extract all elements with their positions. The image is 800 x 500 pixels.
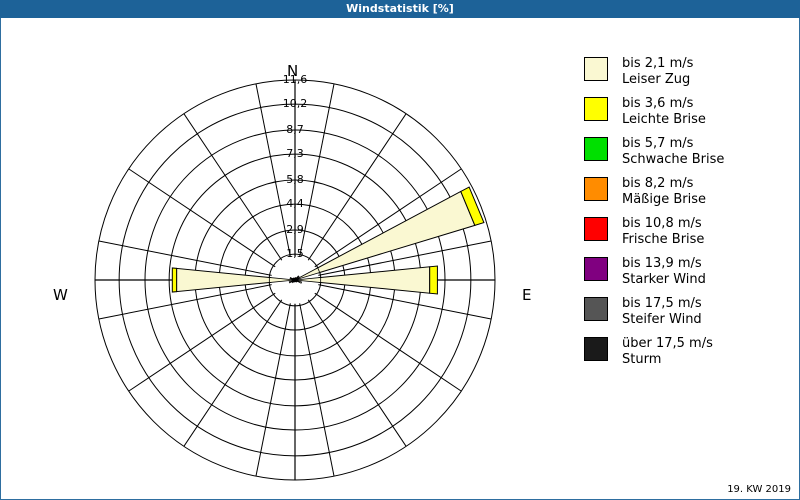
legend-item: bis 17,5 m/sSteifer Wind [584,296,794,327]
legend-category-name: Mäßige Brise [622,192,706,208]
wind-petals [172,187,484,294]
legend-item: bis 3,6 m/sLeichte Brise [584,96,794,127]
legend-label: bis 2,1 m/sLeiser Zug [622,56,693,87]
footer-date: 19. KW 2019 [727,484,791,495]
legend-color-swatch [584,57,608,81]
radial-tick-label: 11,6 [275,73,315,86]
radial-tick-label: 5,8 [275,173,315,186]
legend-item: bis 5,7 m/sSchwache Brise [584,136,794,167]
compass-label-west: W [53,286,68,304]
compass-label-east: E [522,286,531,304]
legend-label: bis 13,9 m/sStarker Wind [622,256,706,287]
legend-speed-range: bis 17,5 m/s [622,296,702,312]
legend-category-name: Starker Wind [622,272,706,288]
legend-color-swatch [584,177,608,201]
legend-item: bis 2,1 m/sLeiser Zug [584,56,794,87]
legend-item: über 17,5 m/sSturm [584,336,794,367]
grid-spoke [297,288,335,477]
window-title-bar: Windstatistik [%] [0,0,800,18]
legend-color-swatch [584,337,608,361]
legend-label: bis 8,2 m/sMäßige Brise [622,176,706,207]
center-disc [269,256,320,304]
window-title: Windstatistik [%] [346,2,454,15]
legend-category-name: Leiser Zug [622,72,693,88]
legend-item: bis 10,8 m/sFrische Brise [584,216,794,247]
legend-category-name: Sturm [622,352,713,368]
legend: bis 2,1 m/sLeiser Zugbis 3,6 m/sLeichte … [584,56,794,376]
legend-color-swatch [584,97,608,121]
legend-label: bis 5,7 m/sSchwache Brise [622,136,724,167]
windstatistik-window: Windstatistik [%] N E S W 1,52,94,45,87,… [0,0,800,500]
legend-label: bis 10,8 m/sFrische Brise [622,216,704,247]
legend-label: bis 3,6 m/sLeichte Brise [622,96,706,127]
radial-tick-label: 2,9 [275,223,315,236]
legend-label: über 17,5 m/sSturm [622,336,713,367]
legend-category-name: Schwache Brise [622,152,724,168]
wind-petal-segment [172,268,176,292]
radial-tick-label: 8,7 [275,123,315,136]
wind-petal-segment [430,266,438,294]
legend-category-name: Steifer Wind [622,312,702,328]
legend-color-swatch [584,217,608,241]
radial-tick-label: 10,2 [275,97,315,110]
legend-color-swatch [584,297,608,321]
legend-category-name: Leichte Brise [622,112,706,128]
legend-speed-range: bis 13,9 m/s [622,256,706,272]
legend-item: bis 8,2 m/sMäßige Brise [584,176,794,207]
legend-label: bis 17,5 m/sSteifer Wind [622,296,702,327]
content-frame: N E S W 1,52,94,45,87,38,710,211,6 bis 2… [0,18,800,500]
radial-tick-label: 4,4 [275,197,315,210]
legend-speed-range: bis 10,8 m/s [622,216,704,232]
legend-speed-range: bis 8,2 m/s [622,176,706,192]
legend-category-name: Frische Brise [622,232,704,248]
legend-speed-range: über 17,5 m/s [622,336,713,352]
legend-color-swatch [584,137,608,161]
legend-item: bis 13,9 m/sStarker Wind [584,256,794,287]
legend-color-swatch [584,257,608,281]
legend-speed-range: bis 2,1 m/s [622,56,693,72]
wind-petal-segment [295,191,475,280]
wind-rose-chart: N E S W 1,52,94,45,87,38,710,211,6 [1,36,571,500]
radial-tick-label: 1,5 [275,247,315,260]
radial-tick-label: 7,3 [275,147,315,160]
legend-speed-range: bis 5,7 m/s [622,136,724,152]
legend-speed-range: bis 3,6 m/s [622,96,706,112]
grid-spoke [256,288,294,477]
